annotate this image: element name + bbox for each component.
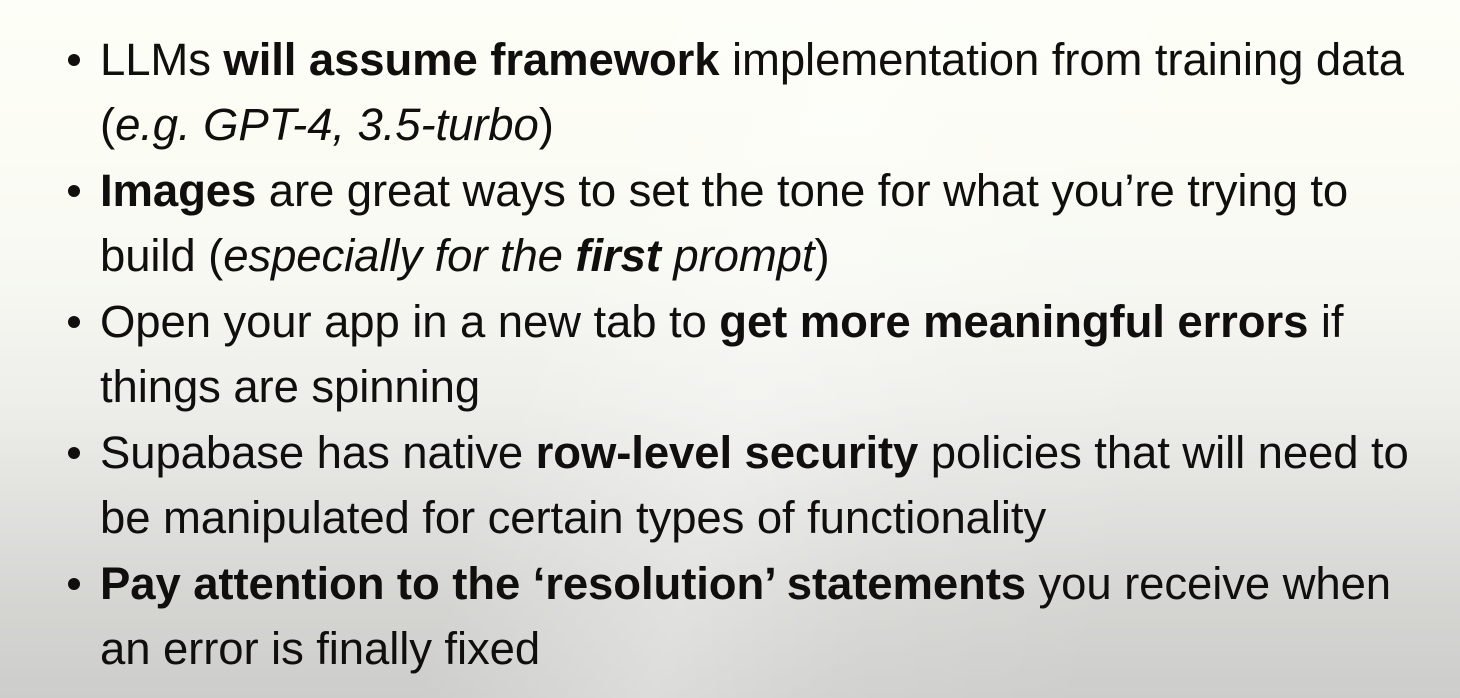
- list-item: LLMs will assume framework implementatio…: [0, 27, 1460, 157]
- list-item: Supabase has native row-level security p…: [0, 420, 1460, 550]
- list-item: Images are great ways to set the tone fo…: [0, 158, 1460, 288]
- bullet-point-icon: [68, 316, 80, 328]
- bullet-point-icon: [68, 447, 80, 459]
- bullet-point-icon: [68, 185, 80, 197]
- bullet-text: Open your app in a new tab to get more m…: [100, 289, 1442, 419]
- list-item: Pay attention to the ‘resolution’ statem…: [0, 551, 1460, 681]
- bullet-point-icon: [68, 578, 80, 590]
- slide-canvas: LLMs will assume framework implementatio…: [0, 0, 1460, 698]
- bullet-text: Pay attention to the ‘resolution’ statem…: [100, 551, 1442, 681]
- bullet-list: LLMs will assume framework implementatio…: [0, 27, 1460, 682]
- bullet-text: LLMs will assume framework implementatio…: [100, 27, 1442, 157]
- bullet-text: Images are great ways to set the tone fo…: [100, 158, 1442, 288]
- list-item: Open your app in a new tab to get more m…: [0, 289, 1460, 419]
- bullet-point-icon: [68, 54, 80, 66]
- bullet-text: Supabase has native row-level security p…: [100, 420, 1442, 550]
